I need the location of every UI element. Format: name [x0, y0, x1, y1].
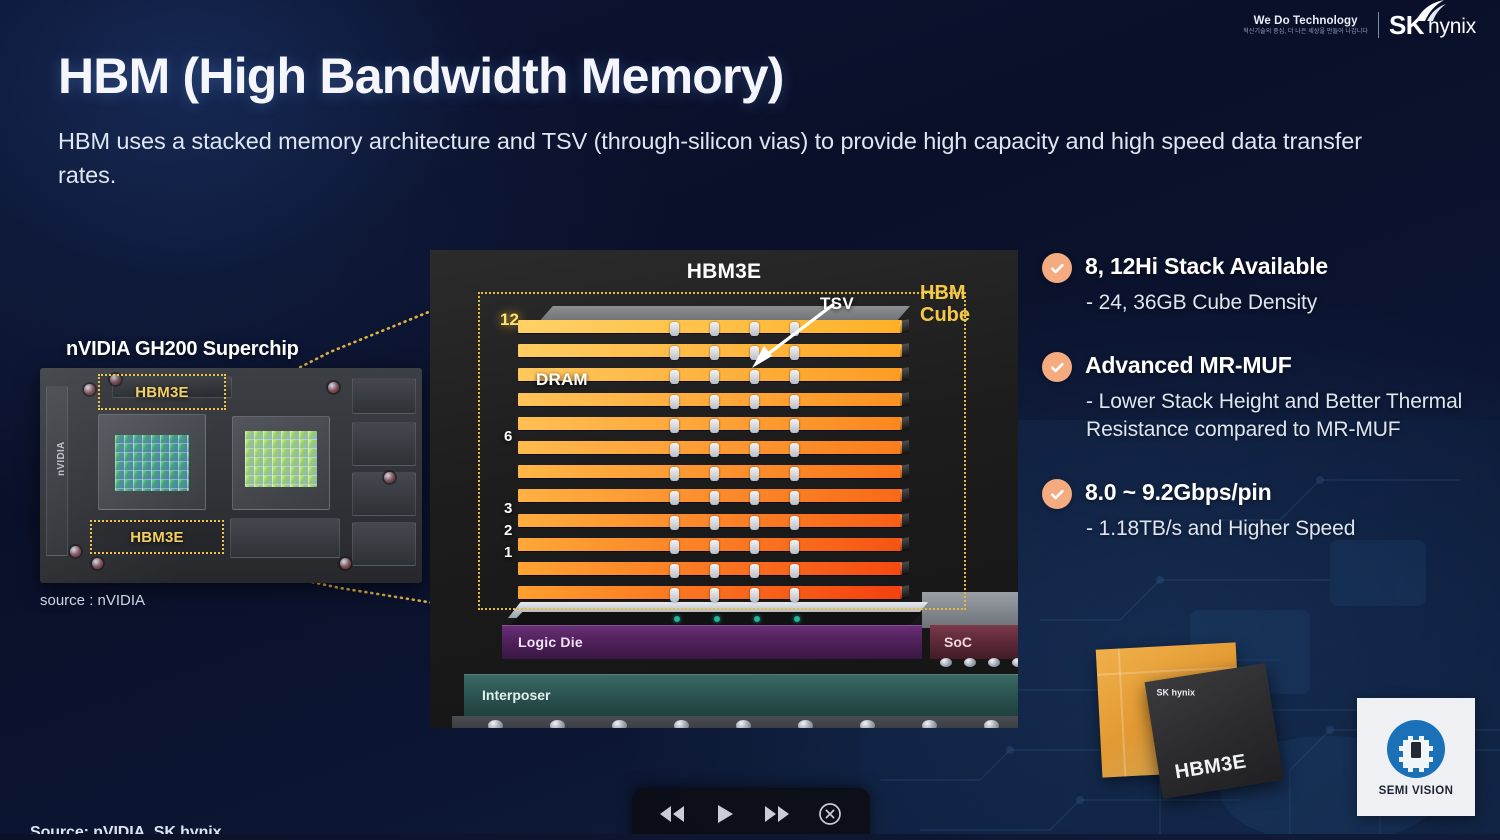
bullet-header: Advanced MR-MUF	[1042, 351, 1492, 382]
tsv-via	[710, 419, 719, 433]
bullet-title: 8, 12Hi Stack Available	[1085, 252, 1328, 281]
tsv-via	[750, 540, 759, 554]
layer-number-3: 3	[504, 500, 512, 517]
soc-label: SoC	[944, 634, 972, 650]
bullet-item: 8.0 ~ 9.2Gbps/pin - 1.18TB/s and Higher …	[1042, 478, 1492, 543]
tsv-via	[790, 564, 799, 578]
logic-die-label: Logic Die	[518, 634, 583, 650]
semi-vision-watermark: SEMI VISION	[1357, 698, 1475, 816]
bottom-strip	[0, 834, 1500, 840]
solder-ball	[674, 720, 689, 728]
page-title: HBM (High Bandwidth Memory)	[58, 47, 784, 105]
layer-number-1: 1	[504, 544, 512, 561]
soc-shelf	[922, 592, 1018, 628]
solder-ball	[612, 720, 627, 728]
tsv-via	[750, 395, 759, 409]
tsv-via	[710, 443, 719, 457]
tsv-via	[670, 370, 679, 384]
tsv-via	[790, 419, 799, 433]
play-icon	[714, 803, 736, 825]
tsv-via	[670, 540, 679, 554]
nvidia-mark: nVIDIA	[56, 441, 67, 476]
brand-divider	[1378, 12, 1379, 38]
soc-solder-ball	[1012, 658, 1018, 667]
fast-forward-icon	[762, 805, 792, 823]
solder-ball	[860, 720, 875, 728]
layer-number-2: 2	[504, 522, 512, 539]
play-button[interactable]	[705, 797, 745, 831]
tsv-column	[670, 306, 679, 626]
solder-ball	[736, 720, 751, 728]
bullet-title: 8.0 ~ 9.2Gbps/pin	[1085, 478, 1271, 507]
solder-ball	[922, 720, 937, 728]
dram-label: DRAM	[536, 370, 588, 390]
tsv-via	[750, 443, 759, 457]
bullet-title: Advanced MR-MUF	[1085, 351, 1292, 380]
tsv-via	[790, 540, 799, 554]
feature-bullet-list: 8, 12Hi Stack Available - 24, 36GB Cube …	[1042, 252, 1492, 572]
bullet-header: 8.0 ~ 9.2Gbps/pin	[1042, 478, 1492, 509]
brand-tagline-sub: 혁신기술의 중심, 더 나은 세상을 만들어 나갑니다	[1243, 29, 1368, 35]
tsv-via	[710, 516, 719, 530]
video-player-controls[interactable]	[632, 788, 870, 840]
tsv-via	[670, 516, 679, 530]
nvidia-source-caption: source : nVIDIA	[40, 592, 145, 609]
dram-stack: DRAM	[518, 306, 908, 606]
check-circle-icon	[1042, 253, 1072, 283]
tsv-via	[710, 322, 719, 336]
rewind-button[interactable]	[652, 797, 692, 831]
tsv-via	[790, 443, 799, 457]
tsv-via	[710, 491, 719, 505]
solder-ball	[798, 720, 813, 728]
bullet-item: 8, 12Hi Stack Available - 24, 36GB Cube …	[1042, 252, 1492, 317]
soc-solder-ball	[964, 658, 976, 667]
hbm3e-package-image: SK hynix HBM3E	[1145, 663, 1284, 799]
slide-root: We Do Technology 혁신기술의 중심, 더 나은 세상을 만들어 …	[0, 0, 1500, 840]
solder-ball	[550, 720, 565, 728]
hbm-cube-label: HBM Cube	[920, 282, 1010, 327]
layer-number-6: 6	[504, 428, 512, 445]
interposer-block: Interposer	[464, 674, 1018, 716]
tsv-via	[710, 588, 719, 602]
gh200-label: nVIDIA GH200 Superchip	[66, 338, 299, 361]
brand-tagline-main: We Do Technology	[1243, 15, 1368, 27]
interposer-label: Interposer	[482, 687, 550, 703]
hbm-cube-label-line1: HBM	[920, 282, 966, 304]
sk-hynix-wing-icon	[1413, 0, 1447, 23]
tsv-via	[790, 491, 799, 505]
tsv-via	[790, 588, 799, 602]
tsv-via	[670, 419, 679, 433]
close-button[interactable]	[810, 797, 850, 831]
cpu-die-grid	[245, 431, 317, 487]
soc-solder-ball	[940, 658, 952, 667]
layer-number-12: 12	[500, 310, 519, 330]
bullet-item: Advanced MR-MUF - Lower Stack Height and…	[1042, 351, 1492, 444]
gpu-die-grid	[115, 435, 189, 491]
tsv-via	[670, 491, 679, 505]
tsv-via	[790, 516, 799, 530]
page-subtitle: HBM uses a stacked memory architecture a…	[58, 124, 1418, 193]
semi-vision-chip-icon	[1385, 718, 1447, 780]
tsv-via	[710, 540, 719, 554]
tsv-via	[710, 346, 719, 360]
tsv-via	[790, 395, 799, 409]
hbm3e-highlight-top: HBM3E	[98, 374, 226, 410]
check-circle-icon	[1042, 352, 1072, 382]
tsv-via	[790, 467, 799, 481]
solder-ball	[488, 720, 503, 728]
tsv-arrow-icon	[730, 298, 840, 374]
tsv-via	[670, 588, 679, 602]
rewind-icon	[657, 805, 687, 823]
soc-solder-balls	[930, 658, 1018, 670]
tsv-via	[710, 395, 719, 409]
hbm3e-diagram-panel: HBM3E HBM Cube 12 6 3 2 1 DRAM TSV L	[430, 250, 1018, 728]
semi-vision-text: SEMI VISION	[1379, 785, 1454, 797]
tsv-via	[750, 588, 759, 602]
hbm3e-product-photo: SK hynix HBM3E	[1095, 640, 1295, 800]
tsv-via	[750, 419, 759, 433]
close-icon	[818, 802, 842, 826]
soc-block: SoC	[930, 625, 1018, 659]
sk-hynix-brand: We Do Technology 혁신기술의 중심, 더 나은 세상을 만들어 …	[1243, 12, 1476, 38]
gh200-board-image: nVIDIA HBM3E HBM3E	[40, 368, 422, 583]
brand-tagline: We Do Technology 혁신기술의 중심, 더 나은 세상을 만들어 …	[1243, 15, 1368, 35]
tsv-column	[710, 306, 719, 626]
solder-ball	[984, 720, 999, 728]
hbm-cube-label-line2: Cube	[920, 304, 970, 326]
tsv-via	[670, 346, 679, 360]
bullet-subtitle: - Lower Stack Height and Better Thermal …	[1086, 388, 1492, 444]
package-name-label: HBM3E	[1173, 750, 1248, 784]
check-circle-icon	[1042, 479, 1072, 509]
tsv-via	[670, 322, 679, 336]
fast-forward-button[interactable]	[757, 797, 797, 831]
tsv-via	[710, 564, 719, 578]
tsv-via	[670, 395, 679, 409]
tsv-via	[710, 370, 719, 384]
tsv-via	[710, 467, 719, 481]
sk-hynix-logo: SK hynix	[1389, 12, 1476, 38]
diagram-title: HBM3E	[430, 260, 1018, 284]
hbm3e-top-label: HBM3E	[135, 384, 189, 401]
tsv-via	[670, 467, 679, 481]
bullet-subtitle: - 1.18TB/s and Higher Speed	[1086, 515, 1492, 543]
tsv-via	[750, 564, 759, 578]
hbm3e-bottom-label: HBM3E	[130, 529, 184, 546]
tsv-via	[750, 516, 759, 530]
package-brand-label: SK hynix	[1157, 688, 1196, 698]
hbm3e-highlight-bottom: HBM3E	[90, 520, 224, 554]
logic-die-block: Logic Die	[502, 625, 922, 659]
tsv-via	[670, 564, 679, 578]
tsv-via	[670, 443, 679, 457]
bullet-subtitle: - 24, 36GB Cube Density	[1086, 289, 1492, 317]
tsv-via	[750, 491, 759, 505]
soc-solder-ball	[988, 658, 1000, 667]
tsv-via	[750, 467, 759, 481]
bullet-header: 8, 12Hi Stack Available	[1042, 252, 1492, 283]
